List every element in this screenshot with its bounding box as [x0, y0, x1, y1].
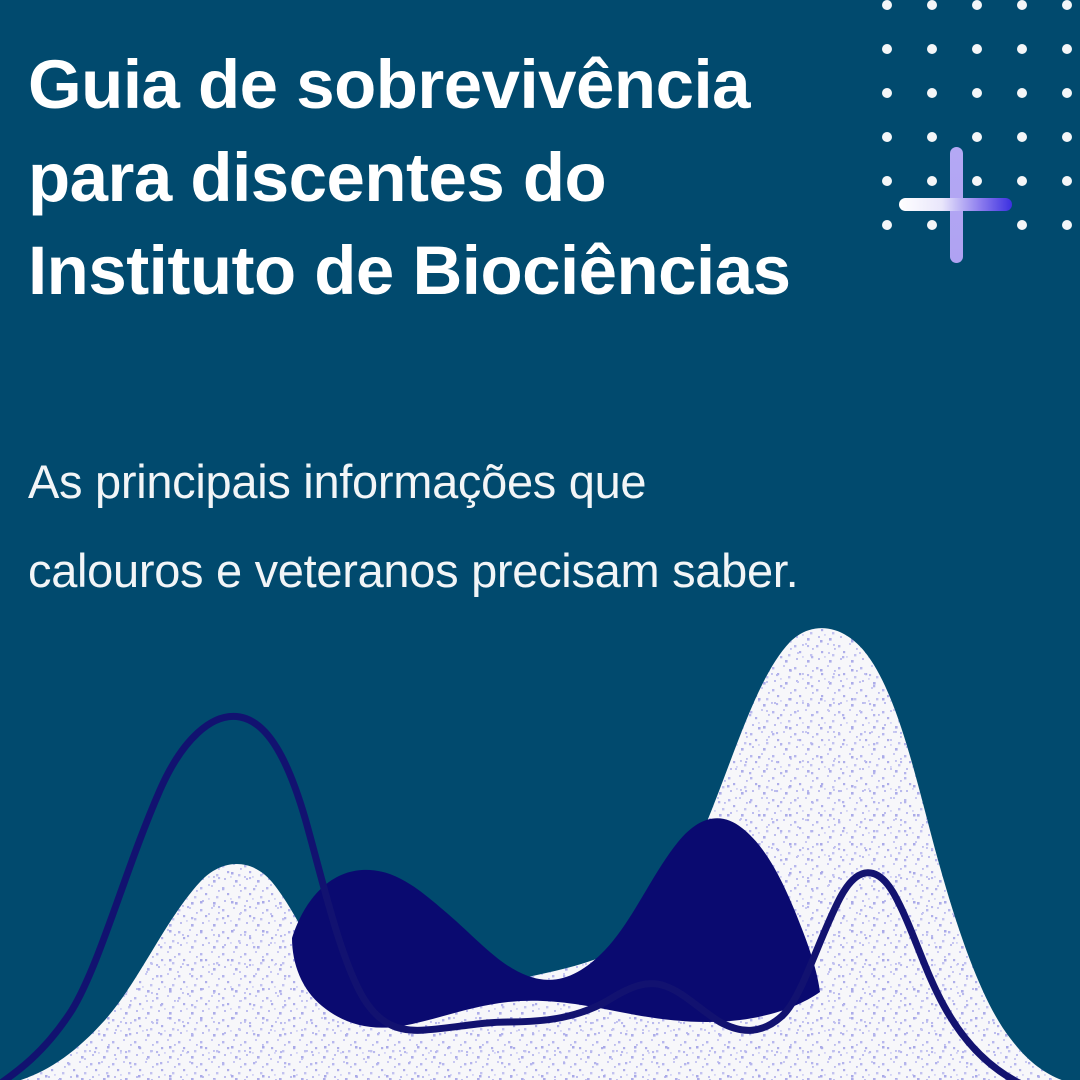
grid-dot [1017, 132, 1027, 142]
grid-dot [1062, 0, 1072, 10]
navy-blob-layer [292, 818, 820, 1027]
title-line-2: para discentes do [28, 131, 908, 224]
poster-canvas: Guia de sobrevivência para discentes do … [0, 0, 1080, 1080]
subtitle-line-1: As principais informações que [28, 437, 1058, 526]
grid-dot [972, 0, 982, 10]
grid-dot [1017, 176, 1027, 186]
wave-artwork [0, 620, 1080, 1080]
grid-dot [927, 132, 937, 142]
grid-dot [1017, 220, 1027, 230]
poster-title: Guia de sobrevivência para discentes do … [28, 38, 908, 317]
grid-dot [1062, 220, 1072, 230]
grid-dot [927, 44, 937, 54]
grid-dot [972, 176, 982, 186]
grid-dot [972, 88, 982, 98]
paper-wave-layer [0, 620, 1080, 1080]
plus-vertical-bar [950, 147, 963, 263]
grid-dot [1017, 0, 1027, 10]
grid-dot [927, 0, 937, 10]
grid-dot [882, 0, 892, 10]
plus-icon [893, 145, 1018, 265]
grid-dot [1062, 44, 1072, 54]
grid-dot [1017, 88, 1027, 98]
grid-dot [972, 44, 982, 54]
poster-subtitle: As principais informações que calouros e… [28, 437, 1058, 615]
grid-dot [972, 132, 982, 142]
plus-horizontal-bar [899, 198, 1012, 211]
subtitle-line-2: calouros e veteranos precisam saber. [28, 526, 1058, 615]
grid-dot [927, 220, 937, 230]
title-line-1: Guia de sobrevivência [28, 38, 908, 131]
grid-dot [927, 176, 937, 186]
grid-dot [1062, 176, 1072, 186]
grid-dot [1062, 88, 1072, 98]
grid-dot [1017, 44, 1027, 54]
grid-dot [927, 88, 937, 98]
grid-dot [1062, 132, 1072, 142]
dot-grid-decoration [882, 0, 1080, 244]
title-line-3: Instituto de Biociências [28, 224, 908, 317]
